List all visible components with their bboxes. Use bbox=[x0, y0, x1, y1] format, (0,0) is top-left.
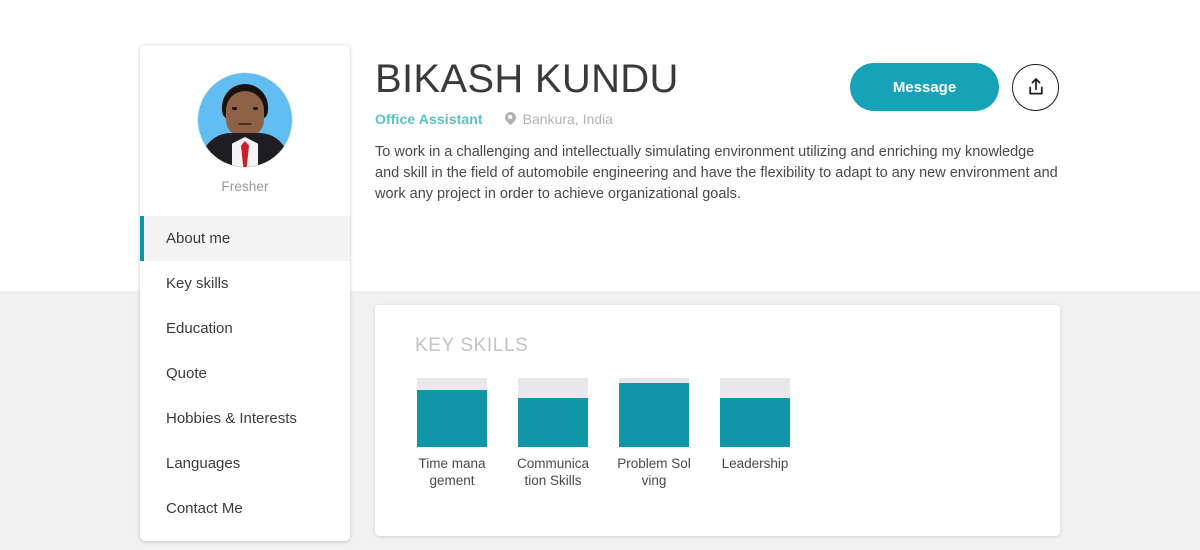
sidebar-item-label: Hobbies & Interests bbox=[166, 410, 297, 427]
avatar-section: Fresher bbox=[140, 45, 350, 194]
skill-item: Communication Skills bbox=[518, 378, 588, 489]
skill-bar-track bbox=[619, 378, 689, 447]
avatar-face-icon bbox=[226, 91, 264, 137]
sidebar-item-label: Education bbox=[166, 320, 233, 337]
skill-label: Problem Solving bbox=[617, 455, 691, 489]
header-actions: Message bbox=[850, 63, 1059, 111]
sidebar-item-quote[interactable]: Quote bbox=[140, 351, 350, 396]
skill-bar-fill bbox=[720, 398, 790, 447]
map-pin-icon bbox=[505, 112, 516, 126]
key-skills-title: KEY SKILLS bbox=[415, 335, 528, 357]
sidebar-item-contact-me[interactable]: Contact Me bbox=[140, 486, 350, 531]
sidebar-item-hobbies-interests[interactable]: Hobbies & Interests bbox=[140, 396, 350, 441]
skill-bar-fill bbox=[417, 390, 487, 447]
location: Bankura, India bbox=[505, 111, 613, 127]
location-text: Bankura, India bbox=[523, 111, 613, 127]
avatar bbox=[198, 73, 292, 167]
skill-item: Problem Solving bbox=[619, 378, 689, 489]
skill-label: Time management bbox=[415, 455, 489, 489]
sidebar-item-key-skills[interactable]: Key skills bbox=[140, 261, 350, 306]
sidebar-item-label: About me bbox=[166, 230, 230, 247]
avatar-caption: Fresher bbox=[221, 179, 268, 194]
sidebar-item-label: Contact Me bbox=[166, 500, 243, 517]
job-title: Office Assistant bbox=[375, 111, 483, 127]
profile-bio: To work in a challenging and intellectua… bbox=[375, 142, 1061, 205]
sidebar-item-education[interactable]: Education bbox=[140, 306, 350, 351]
sidebar-item-label: Languages bbox=[166, 455, 240, 472]
avatar-eye-left-icon bbox=[232, 107, 237, 110]
skill-bar-fill bbox=[619, 383, 689, 447]
avatar-eye-right-icon bbox=[253, 107, 258, 110]
skill-bar-track bbox=[417, 378, 487, 447]
skill-bar-track bbox=[720, 378, 790, 447]
skill-bar-track bbox=[518, 378, 588, 447]
skill-label: Communication Skills bbox=[516, 455, 590, 489]
sidebar-item-label: Key skills bbox=[166, 275, 229, 292]
sidebar-item-about-me[interactable]: About me bbox=[140, 216, 350, 261]
skill-bar-fill bbox=[518, 398, 588, 447]
message-button[interactable]: Message bbox=[850, 63, 999, 111]
skill-label: Leadership bbox=[718, 455, 792, 472]
share-button[interactable] bbox=[1012, 64, 1059, 111]
profile-sidebar-card: Fresher About me Key skills Education Qu… bbox=[140, 45, 350, 541]
key-skills-card: KEY SKILLS Time management Communication… bbox=[375, 305, 1060, 536]
sidebar-item-label: Quote bbox=[166, 365, 207, 382]
skill-item: Time management bbox=[417, 378, 487, 489]
sidebar-item-languages[interactable]: Languages bbox=[140, 441, 350, 486]
sidebar-nav: About me Key skills Education Quote Hobb… bbox=[140, 216, 350, 531]
profile-meta-row: Office Assistant Bankura, India bbox=[375, 111, 1075, 127]
key-skills-chart: Time management Communication Skills Pro… bbox=[417, 378, 790, 489]
share-upload-icon bbox=[1025, 76, 1047, 98]
avatar-mouth-icon bbox=[239, 123, 252, 125]
skill-item: Leadership bbox=[720, 378, 790, 489]
